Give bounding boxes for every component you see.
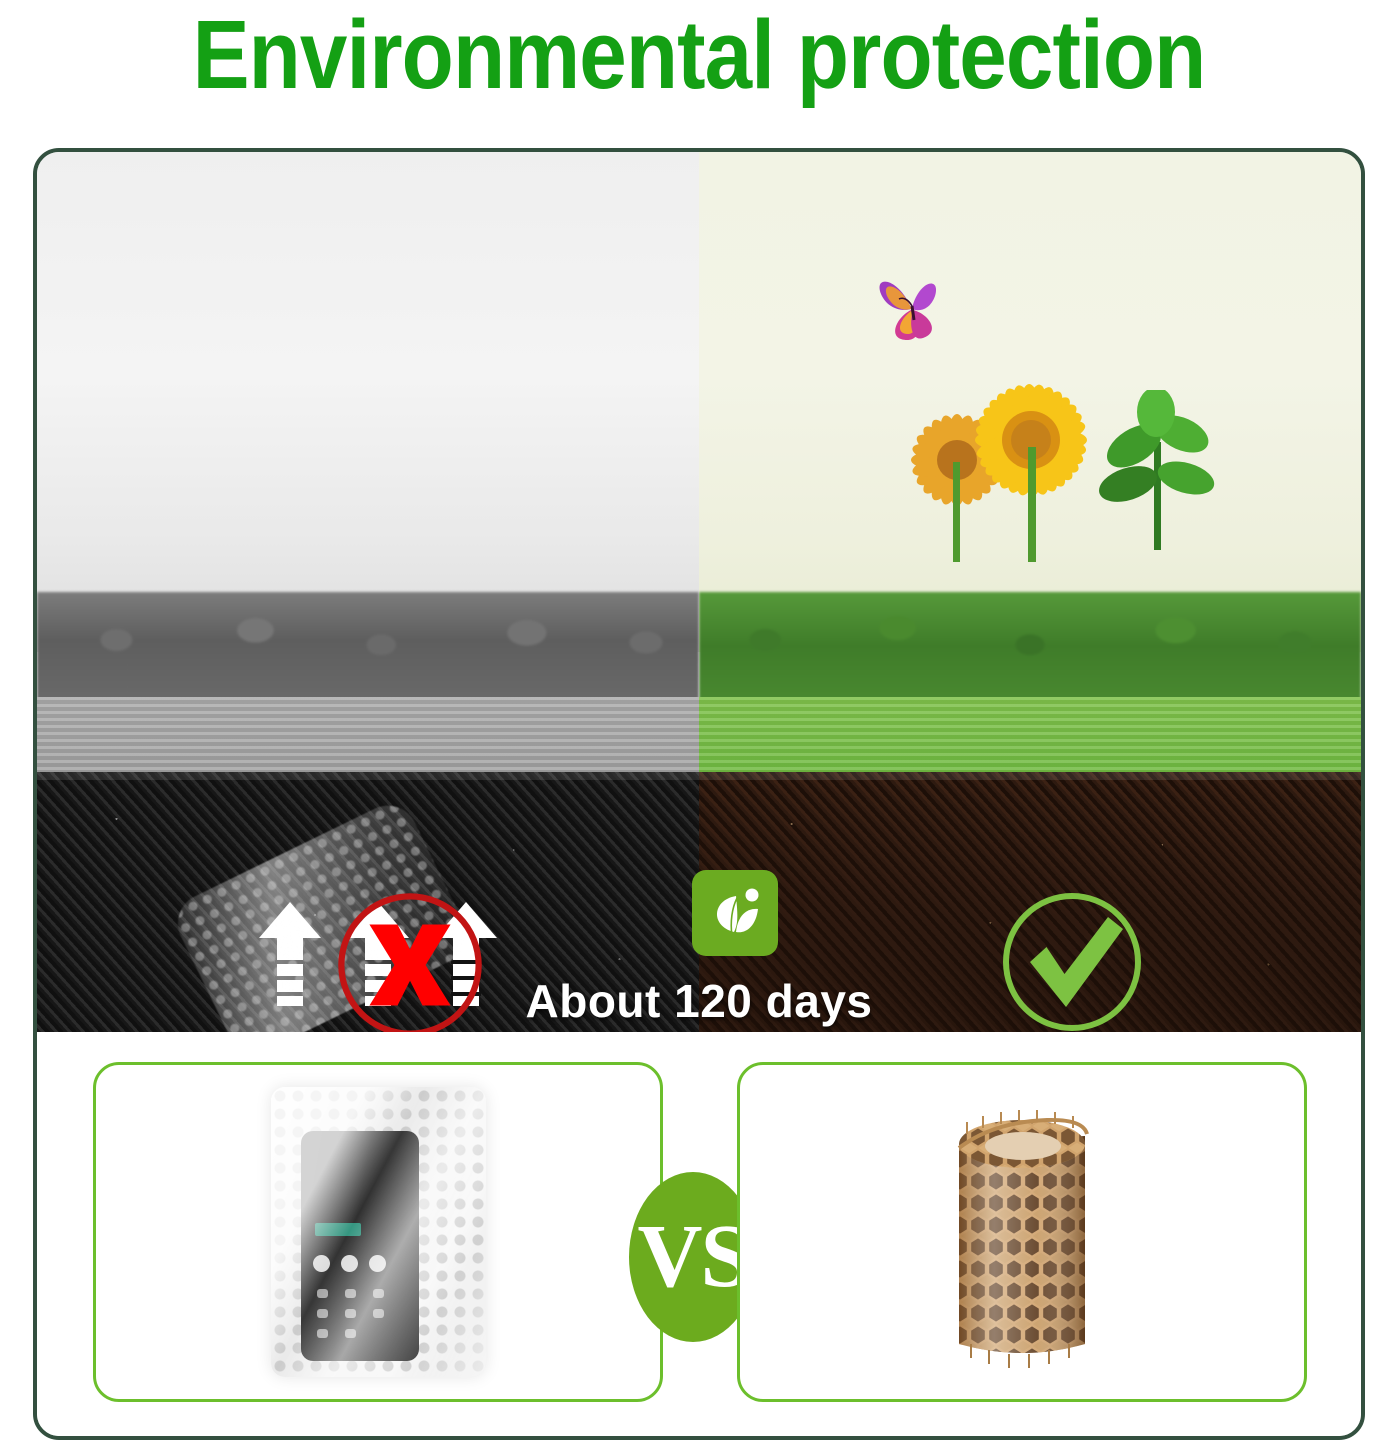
before-after-scene: About 120 days [37,152,1361,1032]
butterfly-icon [865,268,961,346]
eco-badge [692,870,778,956]
paper-product-card[interactable] [737,1062,1307,1402]
plastic-product-card[interactable] [93,1062,663,1402]
product-comparison: VS [37,1032,1361,1437]
eco-leaf-icon [704,882,766,944]
infographic-frame: About 120 days [33,148,1365,1440]
sky-gray [37,152,699,652]
honeycomb-kraft-paper-roll [897,1082,1147,1382]
leaf-plant-icon [1094,390,1224,550]
plastic-sheen-overlay [271,1087,486,1377]
page-title: Environmental protection [84,0,1314,108]
treeline-green [699,592,1361,712]
treeline-gray [37,592,699,712]
decomposition-caption: About 120 days [37,974,1361,1028]
plastic-bubble-wrap-package [271,1087,486,1377]
